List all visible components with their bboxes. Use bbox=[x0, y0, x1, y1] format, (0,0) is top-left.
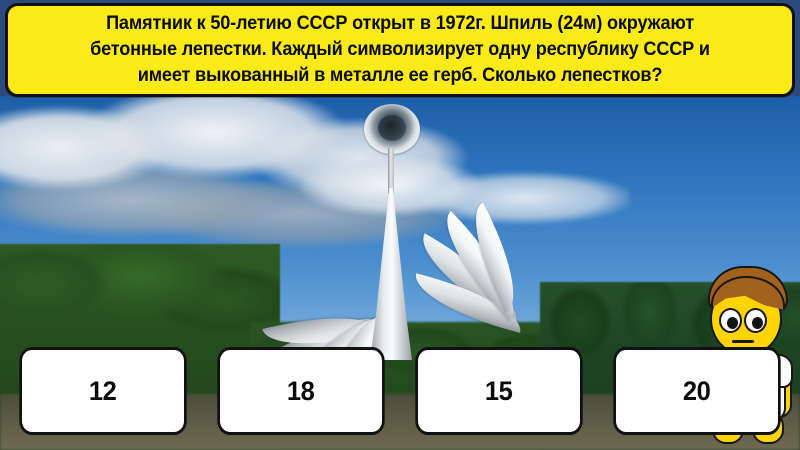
soviet-emblem-icon bbox=[364, 104, 420, 154]
character-pupil-right bbox=[752, 317, 763, 329]
answer-option-4-label: 20 bbox=[683, 376, 710, 407]
answer-option-2[interactable]: 18 bbox=[217, 347, 384, 435]
monument-spire bbox=[370, 188, 412, 360]
answer-options: 12 18 15 20 bbox=[0, 347, 800, 442]
quiz-screen: Памятник к 50-летию СССР открыт в 1972г.… bbox=[0, 0, 800, 450]
answer-option-4[interactable]: 20 bbox=[613, 347, 780, 435]
answer-option-1-label: 12 bbox=[89, 376, 116, 407]
character-eye-left bbox=[719, 308, 742, 333]
answer-option-2-label: 18 bbox=[287, 376, 314, 407]
answer-option-1[interactable]: 12 bbox=[19, 347, 186, 435]
character-eye-right bbox=[744, 308, 767, 333]
emblem-mast bbox=[388, 148, 394, 194]
answer-option-3-label: 15 bbox=[485, 376, 512, 407]
answer-option-3[interactable]: 15 bbox=[415, 347, 582, 435]
character-pupil-left bbox=[727, 317, 738, 329]
question-text: Памятник к 50-летию СССР открыт в 1972г.… bbox=[48, 10, 751, 88]
question-banner: Памятник к 50-летию СССР открыт в 1972г.… bbox=[5, 3, 795, 97]
character-mouth bbox=[732, 340, 754, 343]
